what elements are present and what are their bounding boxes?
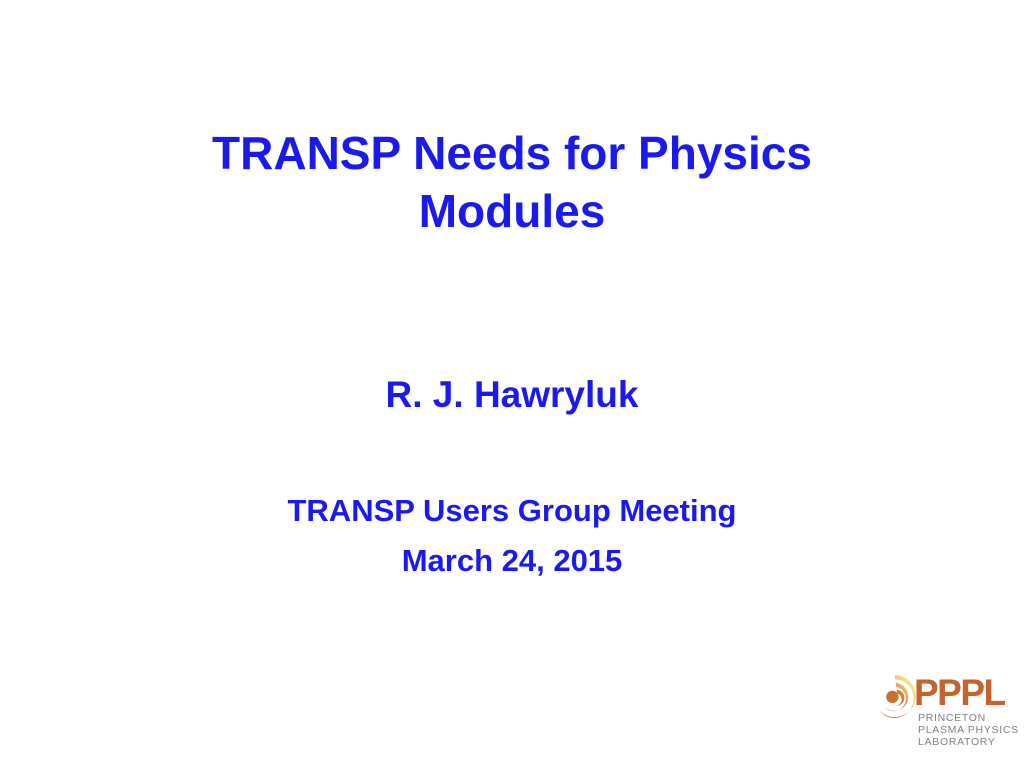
title-line-1: TRANSP Needs for Physics xyxy=(0,124,1024,182)
pppl-subtitle-line-2: PLASMA PHYSICS xyxy=(918,725,1019,737)
presentation-title-slide: TRANSP Needs for Physics Modules R. J. H… xyxy=(0,0,1024,768)
pppl-subtitle-line-3: LABORATORY xyxy=(918,737,1019,749)
title-line-2: Modules xyxy=(0,182,1024,240)
pppl-logo: PPPL PRINCETON PLASMA PHYSICS LABORATORY xyxy=(870,672,1020,756)
event-meeting-name: TRANSP Users Group Meeting xyxy=(0,486,1024,536)
pppl-wordmark: PPPL xyxy=(914,671,1005,715)
pppl-spiral-icon xyxy=(872,674,918,718)
event-date: March 24, 2015 xyxy=(0,536,1024,586)
pppl-logo-subtitle: PRINCETON PLASMA PHYSICS LABORATORY xyxy=(918,713,1019,748)
page-title: TRANSP Needs for Physics Modules xyxy=(0,124,1024,240)
author-name: R. J. Hawryluk xyxy=(0,372,1024,418)
event-block: TRANSP Users Group Meeting March 24, 201… xyxy=(0,486,1024,586)
author-block: R. J. Hawryluk xyxy=(0,372,1024,418)
